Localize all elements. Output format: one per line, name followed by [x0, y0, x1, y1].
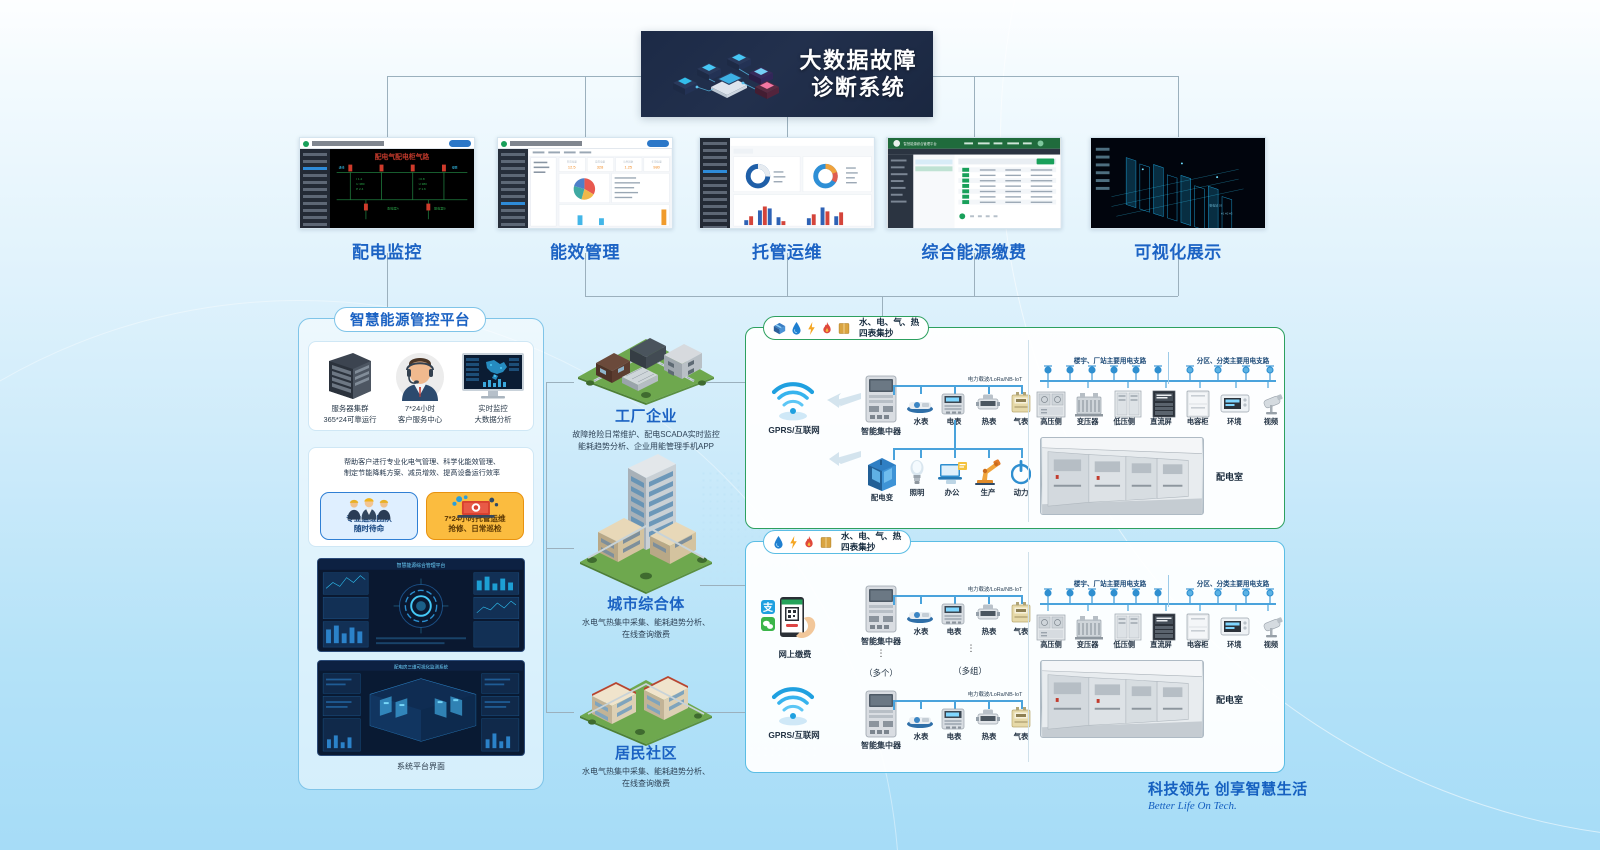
bus-drop [920, 595, 922, 604]
platform-screenshot-1: 智慧能源综合管理平台 [317, 558, 525, 652]
lv-cabinet-icon [1113, 390, 1143, 418]
device-label: 低压侧 [1107, 417, 1141, 427]
scene-description: 水电气热集中采集、能耗趋势分析、 在线查询缴费 [556, 617, 736, 641]
bus-drop [893, 700, 895, 710]
svg-text:支: 支 [762, 601, 774, 614]
service-card: 帮助客户进行专业化电气管理、科学化能效管理、 制定节能降耗方案、减员增效、提高设… [308, 447, 534, 547]
payment-label: 网上缴费 [752, 648, 838, 660]
concentrator-label: 智能集中器 [840, 636, 922, 647]
banner-title-line1: 大数据故障 [799, 47, 917, 75]
device-label: 环境 [1217, 640, 1251, 650]
svg-text:#1 #2 #3: #1 #2 #3 [1221, 211, 1233, 215]
thumbnail-item[interactable]: 变电站 03#1 #2 #3 可视化展示 [1090, 137, 1266, 263]
device-label: 视频 [1254, 417, 1288, 427]
feature-caption: 服务器集群 365*24可靠运行 [315, 404, 385, 425]
svg-text:进线: 进线 [339, 165, 345, 170]
package-icon [820, 536, 832, 549]
svg-text:母联: 母联 [452, 165, 458, 170]
water-meter-icon [905, 396, 935, 414]
bus-drop [1021, 448, 1023, 458]
svg-text:I 1.2: I 1.2 [356, 177, 362, 181]
vertical-ellipsis: ⋮ [950, 645, 992, 652]
room-label: 配电室 [1216, 470, 1243, 483]
wifi-signal-icon [764, 685, 822, 727]
substation-icon [862, 455, 902, 491]
room-label: 配电室 [1216, 693, 1243, 706]
device-label: 视频 [1254, 640, 1288, 650]
meter-bus [893, 385, 1023, 387]
svg-text:配电气配电柜气路: 配电气配电柜气路 [375, 152, 430, 161]
connector [387, 76, 388, 137]
vertical-ellipsis: ⋮ [860, 650, 902, 657]
device-drops [1040, 603, 1276, 611]
platform-feature-card: 服务器集群 365*24可靠运行 7*24小时 客户服务中心 [308, 341, 534, 431]
hv-cabinet-icon [1036, 390, 1066, 418]
svg-text:日用电量: 日用电量 [567, 160, 578, 164]
service-description: 帮助客户进行专业化电气管理、科学化能效管理、 制定节能降耗方案、减员增效、提高设… [318, 457, 526, 480]
lamp-icon [907, 459, 927, 485]
thumbnail-image-billing[interactable]: 智慧能源综合管理平台 [886, 137, 1062, 229]
bigdata-illustration [651, 39, 811, 111]
connector [387, 76, 641, 77]
concentrator-multi-label: （多个） [854, 667, 908, 679]
svg-text:配电室B: 配电室B [434, 205, 445, 210]
diagram-canvas: 大数据故障 诊断系统 配电气配电柜气路 [0, 0, 1600, 850]
svg-text:1.25: 1.25 [624, 165, 632, 170]
svg-text:U 380: U 380 [356, 182, 365, 186]
device-label: 直流屏 [1144, 640, 1178, 650]
wifi-signal-icon [764, 380, 822, 422]
heat-meter-icon [975, 603, 1001, 625]
panel-top-header-text: 水、电、气、热 四表集抄 [859, 317, 919, 338]
gas-meter-icon [1009, 706, 1033, 730]
device-label: 低压侧 [1107, 640, 1141, 650]
electric-meter-icon [940, 603, 966, 625]
flame-icon [821, 322, 833, 335]
svg-text:12.5: 12.5 [568, 165, 576, 170]
panel-bottom-header-text: 水、电、气、热 四表集抄 [841, 531, 901, 552]
svg-text:年用电量: 年用电量 [652, 160, 663, 164]
service-pill-team[interactable]: 专业运维团队 随时待命 [320, 492, 418, 540]
concentrator-label: 智能集中器 [840, 426, 922, 437]
network-label: GPRS/互联网 [749, 424, 839, 436]
switchroom-photo [1040, 437, 1204, 515]
thumbnail-item[interactable]: 配电气配电柜气路 [299, 137, 475, 263]
transformer-icon [1074, 613, 1104, 641]
thumbnail-image-om[interactable] [699, 137, 875, 229]
gas-meter-icon [1009, 391, 1033, 415]
thumbnail-item[interactable]: 托管运维 [699, 137, 875, 263]
svg-text:980: 980 [653, 165, 660, 170]
svg-text:P 1.6: P 1.6 [419, 187, 426, 191]
office-icon [938, 461, 968, 485]
server-rack-icon [323, 351, 377, 401]
gas-meter-icon [1009, 601, 1033, 625]
team-icon [341, 495, 397, 520]
svg-text:智慧能源综合管理平台: 智慧能源综合管理平台 [397, 562, 446, 569]
thumbnail-label: 托管运维 [699, 238, 875, 263]
concentrator-icon [864, 375, 898, 423]
panel-top-header: 水、电、气、热 四表集抄 [763, 316, 929, 340]
load-label: 照明 [897, 487, 937, 498]
bus-drop [920, 448, 922, 458]
connector [1178, 76, 1179, 137]
network-label: GPRS/互联网 [749, 729, 839, 741]
svg-text:配电室A: 配电室A [387, 205, 399, 210]
svg-text:配电房三维可视化监测系统: 配电房三维可视化监测系统 [394, 663, 448, 670]
hv-cabinet-icon [1036, 613, 1066, 641]
device-drops [1040, 380, 1276, 388]
device-label: 高压侧 [1034, 417, 1068, 427]
service-pill-om[interactable]: 7*24小时托管运维 抢修、日常巡检 [426, 492, 524, 540]
brand-slogan-cn: 科技领先 创享智慧生活 [1148, 778, 1308, 799]
device-icons-row-top [1036, 388, 1286, 418]
load-label: 动力 [1001, 487, 1041, 498]
load-label: 办公 [932, 487, 972, 498]
svg-text:328: 328 [597, 165, 604, 170]
scene-residential: 居民社区 水电气热集中采集、能耗趋势分析、 在线查询缴费 [556, 742, 736, 790]
svg-text:P 2.4: P 2.4 [356, 187, 363, 191]
brand-slogan-en: Better Life On Tech. [1148, 800, 1308, 812]
bus-drop [893, 385, 895, 395]
feature-caption: 7*24小时 客户服务中心 [387, 404, 453, 425]
meter-bus [893, 700, 1023, 702]
switchroom-photo [1040, 660, 1204, 738]
water-drop-icon [773, 536, 784, 549]
feature-caption: 实时监控 大数据分析 [459, 404, 527, 425]
thumbnail-label: 可视化展示 [1090, 238, 1266, 263]
support-agent-icon [394, 351, 446, 401]
device-icons-row-bottom [1036, 611, 1286, 641]
svg-text:智慧能源综合管理平台: 智慧能源综合管理平台 [904, 141, 938, 146]
meter-label: 气表 [1001, 731, 1041, 742]
repair-laptop-icon [447, 495, 503, 520]
environment-sensor-icon [1220, 613, 1250, 641]
meter-label: 电表 [934, 731, 974, 742]
platform-screenshot-2: 配电房三维可视化监测系统 [317, 660, 525, 756]
electric-meter-icon [940, 708, 966, 730]
thumbnail-item[interactable]: 智慧能源综合管理平台 [886, 137, 1062, 263]
bus-drop [954, 448, 956, 458]
meter-label: 气表 [1001, 626, 1041, 637]
factory-scene-icon [566, 325, 726, 407]
thumbnail-label: 配电监控 [299, 238, 475, 263]
device-labels-row-bottom: 高压侧 变压器 低压侧 直流屏 电容柜 环境 视频 [1034, 640, 1288, 650]
svg-text:变电站 03: 变电站 03 [1209, 202, 1222, 207]
meter-label: 电表 [934, 626, 974, 637]
thumbnail-image-scada[interactable]: 配电气配电柜气路 [299, 137, 475, 229]
device-label: 电容柜 [1181, 417, 1215, 427]
thumbnail-label: 能效管理 [497, 238, 673, 263]
panel-divider [1028, 340, 1029, 522]
svg-text:功率因数: 功率因数 [623, 160, 634, 164]
svg-text:I 0.8: I 0.8 [419, 177, 425, 181]
dc-panel-icon [1151, 390, 1177, 418]
load-bus [893, 448, 1023, 450]
svg-text:U 380: U 380 [419, 182, 428, 186]
device-label: 直流屏 [1144, 417, 1178, 427]
device-label: 高压侧 [1034, 640, 1068, 650]
thumbnail-image-efficiency[interactable]: 12.53281.25980 日用电量月用电量功率因数年用电量 [497, 137, 673, 229]
thumbnail-image-visual[interactable]: 变电站 03#1 #2 #3 [1090, 137, 1266, 229]
connector [933, 76, 1178, 77]
brand-slogan: 科技领先 创享智慧生活 Better Life On Tech. [1148, 778, 1308, 812]
bus-drop [954, 420, 956, 448]
heat-meter-icon [975, 708, 1001, 730]
lightning-icon [807, 322, 816, 335]
concentrator-icon [864, 585, 898, 633]
panel-divider [1028, 552, 1029, 762]
device-label: 电容柜 [1181, 640, 1215, 650]
bus-drop [920, 700, 922, 709]
box-icon [773, 322, 786, 335]
bus-drop [988, 448, 990, 458]
scene-city-complex: 城市综合体 水电气热集中采集、能耗趋势分析、 在线查询缴费 [556, 593, 736, 641]
platform-title: 智慧能源管控平台 [334, 307, 486, 332]
panel-bottom-header: 水、电、气、热 四表集抄 [763, 530, 911, 554]
heat-meter-icon [975, 393, 1001, 415]
device-labels-row-top: 高压侧 变压器 低压侧 直流屏 电容柜 环境 视频 [1034, 417, 1288, 427]
bus-drop [893, 448, 895, 460]
monitor-map-icon [461, 352, 525, 400]
mobile-payment-icon: 支 [760, 596, 822, 644]
system-title-banner: 大数据故障 诊断系统 [641, 31, 933, 117]
arrow-icon [825, 390, 863, 410]
transformer-icon [1074, 390, 1104, 418]
bus-drop [893, 595, 895, 605]
concentrator-icon [864, 690, 898, 738]
connector-spine [546, 382, 547, 712]
meters-multi-label: （多组） [935, 665, 1005, 677]
banner-title-line2: 诊断系统 [799, 74, 917, 102]
environment-sensor-icon [1220, 390, 1250, 418]
scene-factory: 工厂企业 故障抢险日常维护、配电SCADA实时监控 能耗趋势分析、企业用能管理手… [556, 405, 736, 453]
dc-panel-icon [1151, 613, 1177, 641]
scene-description: 水电气热集中采集、能耗趋势分析、 在线查询缴费 [556, 766, 736, 790]
camera-icon [1258, 613, 1286, 641]
water-drop-icon [791, 322, 802, 335]
lightning-icon [789, 536, 798, 549]
connector [974, 76, 975, 137]
residential-scene-icon [566, 662, 726, 746]
thumbnail-label: 综合能源缴费 [886, 238, 1062, 263]
device-label: 环境 [1217, 417, 1251, 427]
camera-icon [1258, 390, 1286, 418]
water-meter-icon [905, 711, 935, 729]
capacitor-cabinet-icon [1185, 390, 1211, 418]
capacitor-cabinet-icon [1185, 613, 1211, 641]
electric-meter-icon [940, 393, 966, 415]
lv-cabinet-icon [1113, 613, 1143, 641]
package-icon [838, 322, 850, 335]
meter-bus [893, 595, 1023, 597]
device-label: 变压器 [1071, 640, 1105, 650]
connector [882, 296, 883, 316]
bus-drop [920, 385, 922, 394]
robot-arm-icon [975, 458, 1001, 485]
svg-text:月用电量: 月用电量 [595, 160, 606, 164]
connector [787, 117, 788, 137]
screens-caption: 系统平台界面 [317, 761, 525, 772]
thumbnail-item[interactable]: 12.53281.25980 日用电量月用电量功率因数年用电量 [497, 137, 673, 263]
flame-icon [803, 536, 815, 549]
connector [585, 76, 586, 137]
city-complex-scene-icon [566, 450, 726, 595]
banner-title: 大数据故障 诊断系统 [799, 47, 917, 102]
arrow-icon [825, 448, 863, 468]
water-meter-icon [905, 606, 935, 624]
device-label: 变压器 [1071, 417, 1105, 427]
